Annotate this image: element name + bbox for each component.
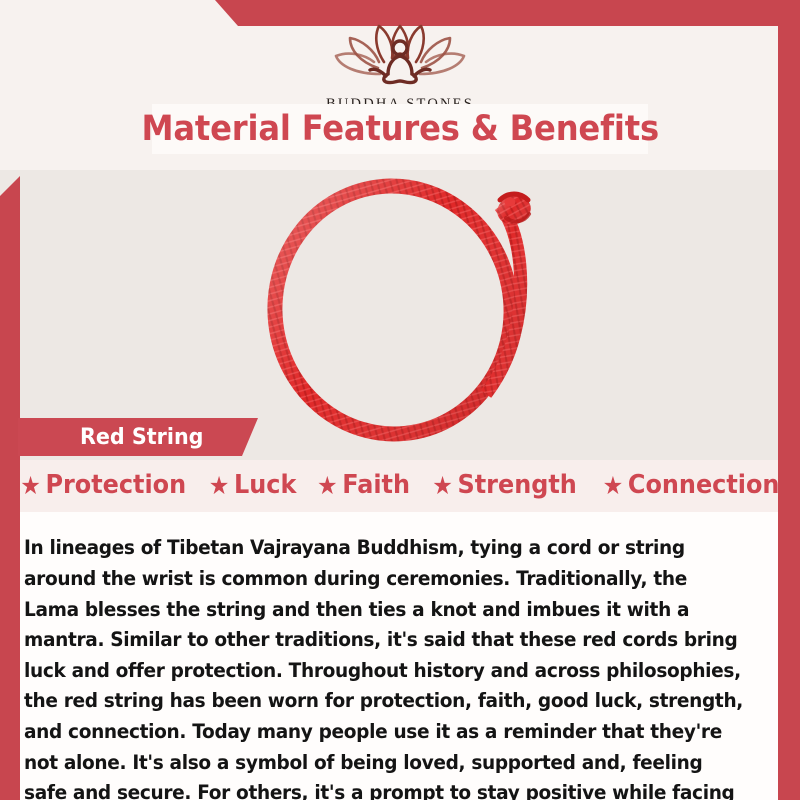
benefit-label: Strength bbox=[457, 470, 576, 500]
benefit-label: Luck bbox=[234, 470, 296, 500]
benefit-item-protection: ★ Protection bbox=[15, 470, 192, 500]
star-icon: ★ bbox=[20, 473, 41, 498]
benefit-item-luck: ★ Luck bbox=[204, 470, 303, 500]
benefit-label: Connection bbox=[628, 470, 780, 500]
brand-logo: BUDDHA STONES bbox=[0, 18, 800, 113]
benefit-item-strength: ★ Strength bbox=[426, 470, 582, 500]
description-paragraph: In lineages of Tibetan Vajrayana Buddhis… bbox=[24, 533, 746, 800]
lotus-meditation-icon bbox=[320, 18, 480, 92]
star-icon: ★ bbox=[209, 473, 230, 498]
product-name-label: Red String bbox=[80, 425, 204, 450]
red-braided-string-bracelet-image bbox=[238, 158, 568, 458]
product-name-tag: Red String bbox=[18, 418, 258, 456]
star-icon: ★ bbox=[432, 473, 453, 498]
decor-right-red-bar bbox=[778, 0, 800, 800]
benefit-item-faith: ★ Faith bbox=[311, 470, 415, 500]
benefit-label: Faith bbox=[342, 470, 410, 500]
star-icon: ★ bbox=[317, 473, 338, 498]
benefit-label: Protection bbox=[46, 470, 187, 500]
title-banner: Material Features & Benefits bbox=[152, 104, 648, 154]
infographic-poster: BUDDHA STONES Material Features & Benefi… bbox=[0, 0, 800, 800]
page-title: Material Features & Benefits bbox=[141, 109, 658, 149]
benefit-item-connection: ★ Connection bbox=[597, 470, 785, 500]
star-icon: ★ bbox=[602, 473, 623, 498]
benefits-list: ★ Protection ★ Luck ★ Faith ★ Strength ★… bbox=[0, 462, 800, 508]
